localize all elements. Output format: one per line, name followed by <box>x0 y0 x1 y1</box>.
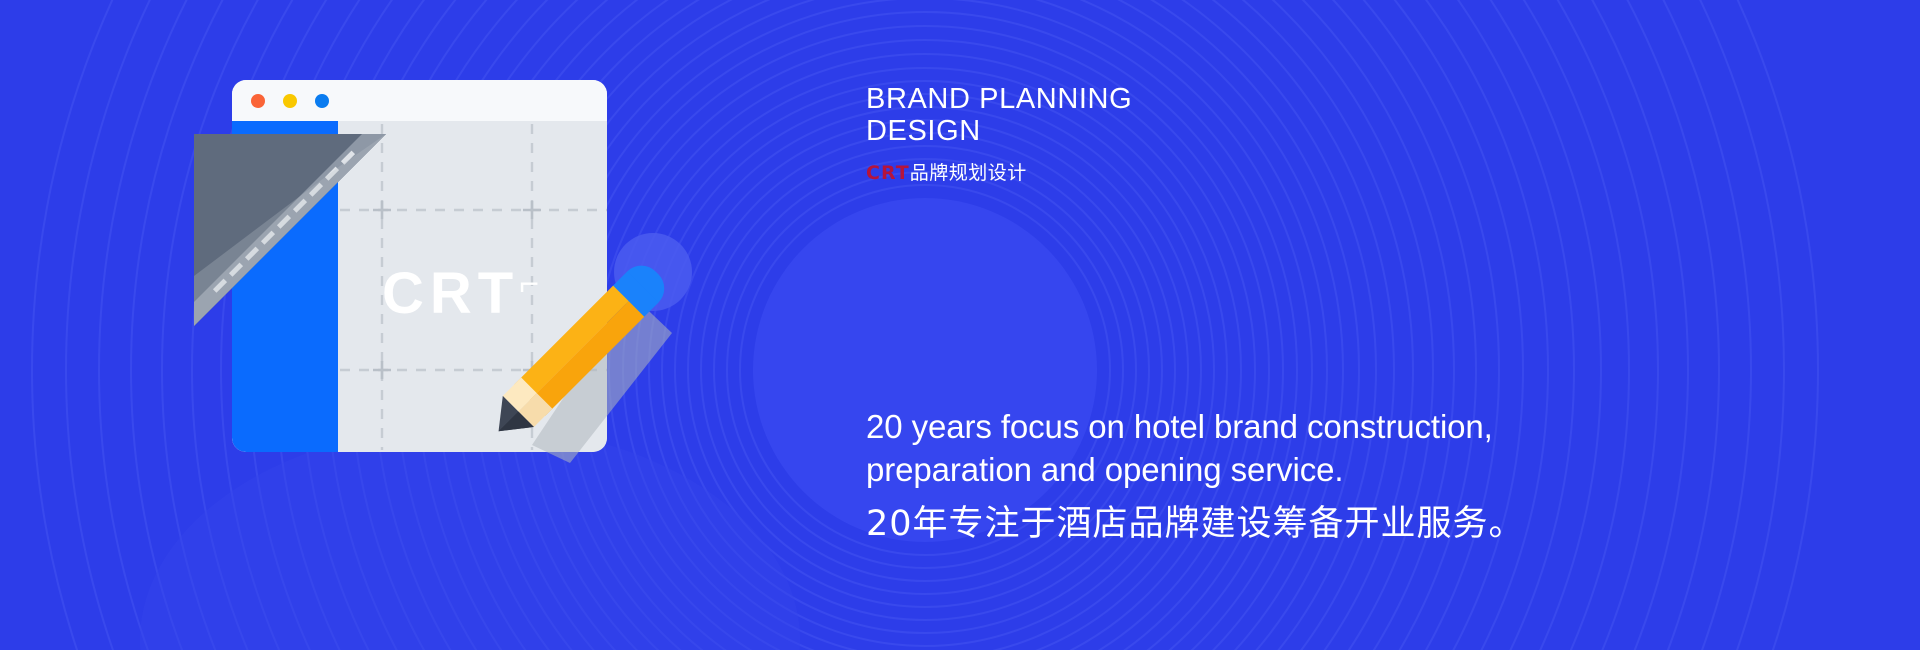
tagline-chinese: 20年专注于酒店品牌建设筹备开业服务。 <box>866 503 1706 545</box>
tagline-block: 20 years focus on hotel brand constructi… <box>866 406 1706 545</box>
heading-subtitle: CRT品牌规划设计 <box>866 158 1132 185</box>
heading-block: BRAND PLANNING DESIGN CRT品牌规划设计 <box>866 84 1132 185</box>
heading-line-2: DESIGN <box>866 116 1132 148</box>
brand-banner: CRT⌐ <box>0 0 1920 650</box>
window-minimize-dot-icon[interactable] <box>283 94 297 108</box>
heading-line-1: BRAND PLANNING <box>866 84 1132 116</box>
pencil-icon <box>462 225 702 465</box>
heading-subtitle-text: 品牌规划设计 <box>910 162 1027 184</box>
tagline-english-line-2: preparation and opening service. <box>866 449 1706 492</box>
tagline-english-line-1: 20 years focus on hotel brand constructi… <box>866 406 1706 449</box>
design-illustration: CRT⌐ <box>232 80 607 452</box>
window-maximize-dot-icon[interactable] <box>315 94 329 108</box>
window-close-dot-icon[interactable] <box>251 94 265 108</box>
triangle-ruler-icon <box>190 130 390 330</box>
heading-subtitle-brand: CRT <box>866 162 910 184</box>
window-titlebar <box>232 80 607 121</box>
